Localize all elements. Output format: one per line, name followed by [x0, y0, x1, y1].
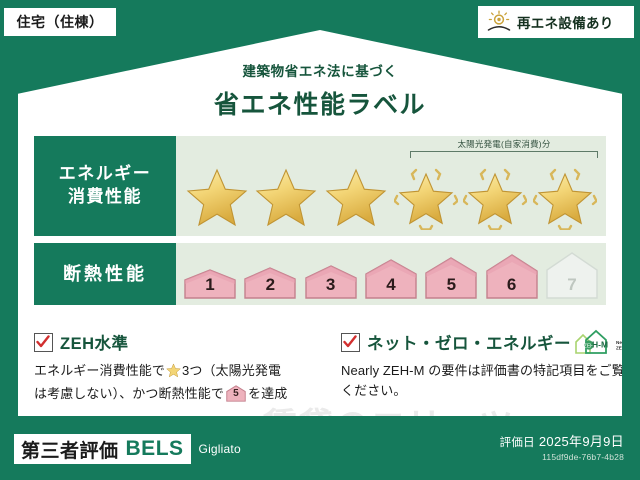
star-solar-5	[463, 166, 527, 230]
energy-performance-label: 住宅（住棟） 再エネ設備あり 建築物省エネ法に基づく 省エネ性能ラベ	[0, 0, 640, 480]
insulation-rating-area: 1 2	[176, 243, 606, 305]
renewable-equipment-badge: 再エネ設備あり	[478, 6, 634, 38]
bels-logo-text: BELS	[126, 437, 184, 461]
insulation-badge-2: 2	[244, 267, 296, 299]
label-heading: 建築物省エネ法に基づく 省エネ性能ラベル	[18, 60, 622, 121]
star-solar-4	[394, 166, 458, 230]
zeh-check-header: ZEH水準	[34, 330, 327, 354]
bels-plate: 第三者評価 BELS	[14, 434, 191, 464]
zeh-check-description: エネルギー消費性能で3つ（太陽光発電 は考慮しない）、かつ断熱性能で5を達成	[34, 361, 327, 404]
heading-title: 省エネ性能ラベル	[18, 85, 622, 121]
inline-badge-number: 5	[226, 386, 246, 402]
check-zeh-standard: ZEH水準 エネルギー消費性能で3つ（太陽光発電 は考慮しない）、かつ断熱性能で…	[34, 330, 327, 404]
inline-insulation-badge-icon: 5	[226, 385, 246, 402]
insulation-label-text: 断熱性能	[63, 262, 147, 286]
sun-icon	[486, 10, 512, 34]
insulation-performance-label: 断熱性能	[34, 243, 176, 305]
energy-performance-row: エネルギー 消費性能 太陽光発電(自家消費)分	[34, 136, 606, 236]
house-type-text: 住宅（住棟）	[17, 12, 104, 32]
renewable-badge-label: 再エネ設備あり	[517, 12, 614, 32]
evaluation-date-label: 評価日	[500, 437, 535, 449]
evaluation-uuid: 115df9de-76b7-4b28	[500, 452, 624, 462]
check-net-zero-energy: ネット・ゼロ・エネルギー ZEH H-M Nearly ZEH-M Nearly…	[341, 330, 634, 404]
insulation-performance-row: 断熱性能 1	[34, 243, 606, 305]
zehm-logo-sub1: Nearly	[616, 340, 628, 345]
energy-label-line2: 消費性能	[68, 186, 142, 209]
insulation-badge-6-number: 6	[486, 275, 538, 295]
bels-footer: 第三者評価 BELS Gigliato	[14, 434, 241, 464]
insulation-badge-3-number: 3	[305, 275, 357, 295]
star-filled-1	[185, 166, 249, 230]
energy-label-line1: エネルギー	[59, 163, 152, 186]
evaluation-date-line: 評価日 2025年9月9日	[500, 431, 624, 450]
insulation-badge-4-number: 4	[365, 275, 417, 295]
solar-generation-annotation: 太陽光発電(自家消費)分	[410, 138, 598, 158]
check-icon	[34, 333, 53, 352]
zehm-logo-sub2: ZEH-M	[616, 345, 628, 350]
energy-rating-area: 太陽光発電(自家消費)分	[176, 136, 606, 236]
watermark: 賃貸のエリッツ	[263, 398, 515, 447]
heading-subtitle: 建築物省エネ法に基づく	[18, 60, 622, 80]
zeh-desc-part1: エネルギー消費性能で	[34, 363, 165, 378]
star-filled-2	[254, 166, 318, 230]
zeh-m-house-logo: ZEH H-M Nearly ZEH-M	[566, 326, 628, 358]
evaluation-date-block: 評価日 2025年9月9日 115df9de-76b7-4b28	[500, 431, 624, 462]
insulation-badge-7: 7	[546, 252, 598, 299]
evaluation-date-value: 2025年9月9日	[539, 434, 624, 449]
inline-star-icon	[166, 363, 181, 384]
insulation-badge-7-number: 7	[546, 275, 598, 295]
star-solar-6	[533, 166, 597, 230]
insulation-badge-2-number: 2	[244, 275, 296, 295]
zeh-desc-star-text: 3つ（太陽光発電	[182, 363, 281, 378]
label-panel: 建築物省エネ法に基づく 省エネ性能ラベル エネルギー 消費性能 太陽光発電(自家…	[18, 30, 622, 416]
insulation-badge-5: 5	[425, 257, 477, 299]
star-filled-3	[324, 166, 388, 230]
energy-performance-label: エネルギー 消費性能	[34, 136, 176, 236]
insulation-badge-1-number: 1	[184, 275, 236, 295]
solar-bracket	[410, 151, 598, 158]
solar-annotation-text: 太陽光発電(自家消費)分	[410, 138, 598, 150]
performance-rows: エネルギー 消費性能 太陽光発電(自家消費)分	[34, 136, 606, 305]
insulation-badge-1: 1	[184, 269, 236, 299]
house-type-tag: 住宅（住棟）	[4, 8, 116, 36]
insulation-badge-track: 1 2	[184, 249, 598, 299]
insulation-badge-5-number: 5	[425, 275, 477, 295]
zehm-logo-text: H-M	[592, 340, 608, 350]
star-rating-track	[182, 163, 600, 233]
zeh-desc-part2: は考慮しない）、かつ断熱性能で	[34, 386, 224, 401]
certification-checks: ZEH水準 エネルギー消費性能で3つ（太陽光発電 は考慮しない）、かつ断熱性能で…	[34, 330, 634, 404]
insulation-badge-3: 3	[305, 265, 357, 299]
insulation-badge-4: 4	[365, 259, 417, 299]
nze-check-title: ネット・ゼロ・エネルギー	[367, 330, 571, 354]
nze-check-description: Nearly ZEH-M の要件は評価書の特記項目をご覧ください。	[341, 361, 634, 401]
bels-japanese-label: 第三者評価	[21, 436, 119, 463]
insulation-badge-6: 6	[486, 254, 538, 299]
zeh-desc-part3: を達成	[248, 386, 287, 401]
building-name: Gigliato	[199, 442, 241, 456]
check-icon	[341, 333, 360, 352]
zeh-check-title: ZEH水準	[60, 330, 129, 354]
